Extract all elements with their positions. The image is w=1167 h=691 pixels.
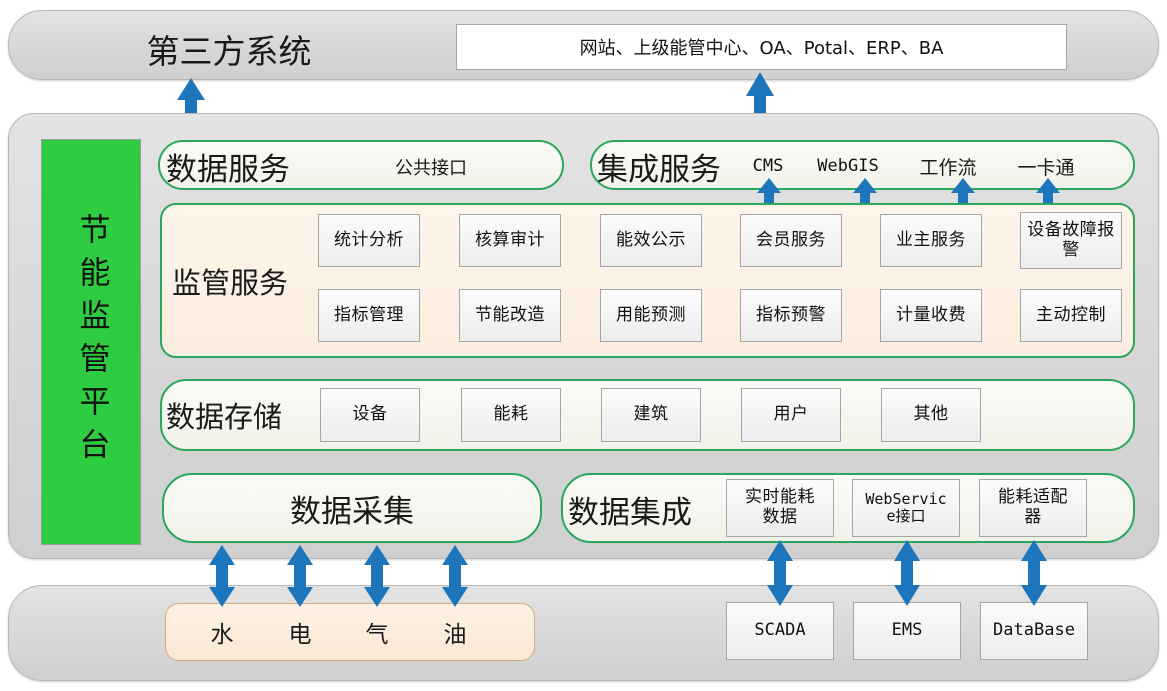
energy-source-gas: 气 xyxy=(355,615,399,649)
integration-box-adapter-line2: 器 xyxy=(1024,508,1042,528)
supervision-box-tongji[interactable]: 统计分析 xyxy=(318,214,420,267)
supervision-box-jienenggaizao[interactable]: 节能改造 xyxy=(459,289,561,342)
supervision-box-yongnengyuce[interactable]: 用能预测 xyxy=(600,289,702,342)
storage-box-yonghu[interactable]: 用户 xyxy=(741,388,841,442)
supervision-box-huiyuan[interactable]: 会员服务 xyxy=(740,214,842,267)
energy-source-water: 水 xyxy=(200,615,244,649)
arrow-collection-to-oil xyxy=(441,545,469,607)
integration-tag-cms: CMS xyxy=(740,153,796,179)
integration-service-title: 集成服务 xyxy=(597,148,721,184)
platform-banner: 节能监管平台 xyxy=(41,139,141,545)
external-box-ems[interactable]: EMS xyxy=(853,602,961,660)
data-integration-title: 数据集成 xyxy=(568,490,692,528)
integration-box-webservice-line2: e接口 xyxy=(886,508,925,525)
integration-box-adapter-line1: 能耗适配 xyxy=(998,488,1068,508)
arrow-integration-to-database xyxy=(1020,540,1048,606)
storage-box-qita[interactable]: 其他 xyxy=(881,388,981,442)
storage-box-jianzhu[interactable]: 建筑 xyxy=(601,388,701,442)
integration-box-realtime-energy-data[interactable]: 实时能耗 数据 xyxy=(726,479,834,537)
arrow-collection-to-water xyxy=(208,545,236,607)
integration-box-realtime-line1: 实时能耗 xyxy=(745,488,815,508)
supervision-box-jiliangshoufei[interactable]: 计量收费 xyxy=(880,289,982,342)
arrow-collection-to-gas xyxy=(363,545,391,607)
data-storage-title: 数据存储 xyxy=(166,397,282,433)
storage-box-shebei[interactable]: 设备 xyxy=(320,388,420,442)
integration-tag-workflow: 工作流 xyxy=(908,152,988,180)
integration-box-energy-adapter[interactable]: 能耗适配 器 xyxy=(979,479,1087,537)
data-collection-title: 数据采集 xyxy=(162,473,542,543)
arrow-collection-to-electricity xyxy=(286,545,314,607)
third-party-title: 第三方系统 xyxy=(104,28,354,70)
supervision-box-hesuan[interactable]: 核算审计 xyxy=(459,214,561,267)
supervision-box-shebeiguzhang[interactable]: 设备故障报警 xyxy=(1020,212,1122,269)
arrow-integration-to-scada xyxy=(766,540,794,606)
energy-source-electricity: 电 xyxy=(278,615,322,649)
supervision-box-yezhu[interactable]: 业主服务 xyxy=(880,214,982,267)
external-box-database[interactable]: DataBase xyxy=(980,602,1088,660)
integration-tag-webgis: WebGIS xyxy=(808,153,888,179)
energy-source-oil: 油 xyxy=(433,615,477,649)
integration-box-webservice-interface[interactable]: WebServic e接口 xyxy=(852,479,960,537)
storage-box-nenghao[interactable]: 能耗 xyxy=(461,388,561,442)
integration-box-realtime-line2: 数据 xyxy=(763,508,798,528)
data-service-title: 数据服务 xyxy=(166,148,290,184)
integration-box-webservice-line1: WebServic xyxy=(865,491,946,508)
supervision-box-nengxiao[interactable]: 能效公示 xyxy=(600,214,702,267)
supervision-box-zhibiaoguanli[interactable]: 指标管理 xyxy=(318,289,420,342)
integration-tag-onecard: 一卡通 xyxy=(1006,152,1086,180)
external-box-scada[interactable]: SCADA xyxy=(726,602,834,660)
architecture-diagram: 第三方系统 网站、上级能管中心、OA、Potal、ERP、BA 节能监管平台 数… xyxy=(0,0,1167,691)
supervision-box-zhudongkongzhi[interactable]: 主动控制 xyxy=(1020,289,1122,342)
platform-banner-label: 节能监管平台 xyxy=(76,213,107,471)
data-service-subtitle: 公共接口 xyxy=(395,152,467,182)
supervision-service-title: 监管服务 xyxy=(172,263,288,299)
arrow-integration-to-ems xyxy=(893,540,921,606)
supervision-box-zhibiaoyujing[interactable]: 指标预警 xyxy=(740,289,842,342)
third-party-systems-box: 网站、上级能管中心、OA、Potal、ERP、BA xyxy=(456,24,1067,70)
